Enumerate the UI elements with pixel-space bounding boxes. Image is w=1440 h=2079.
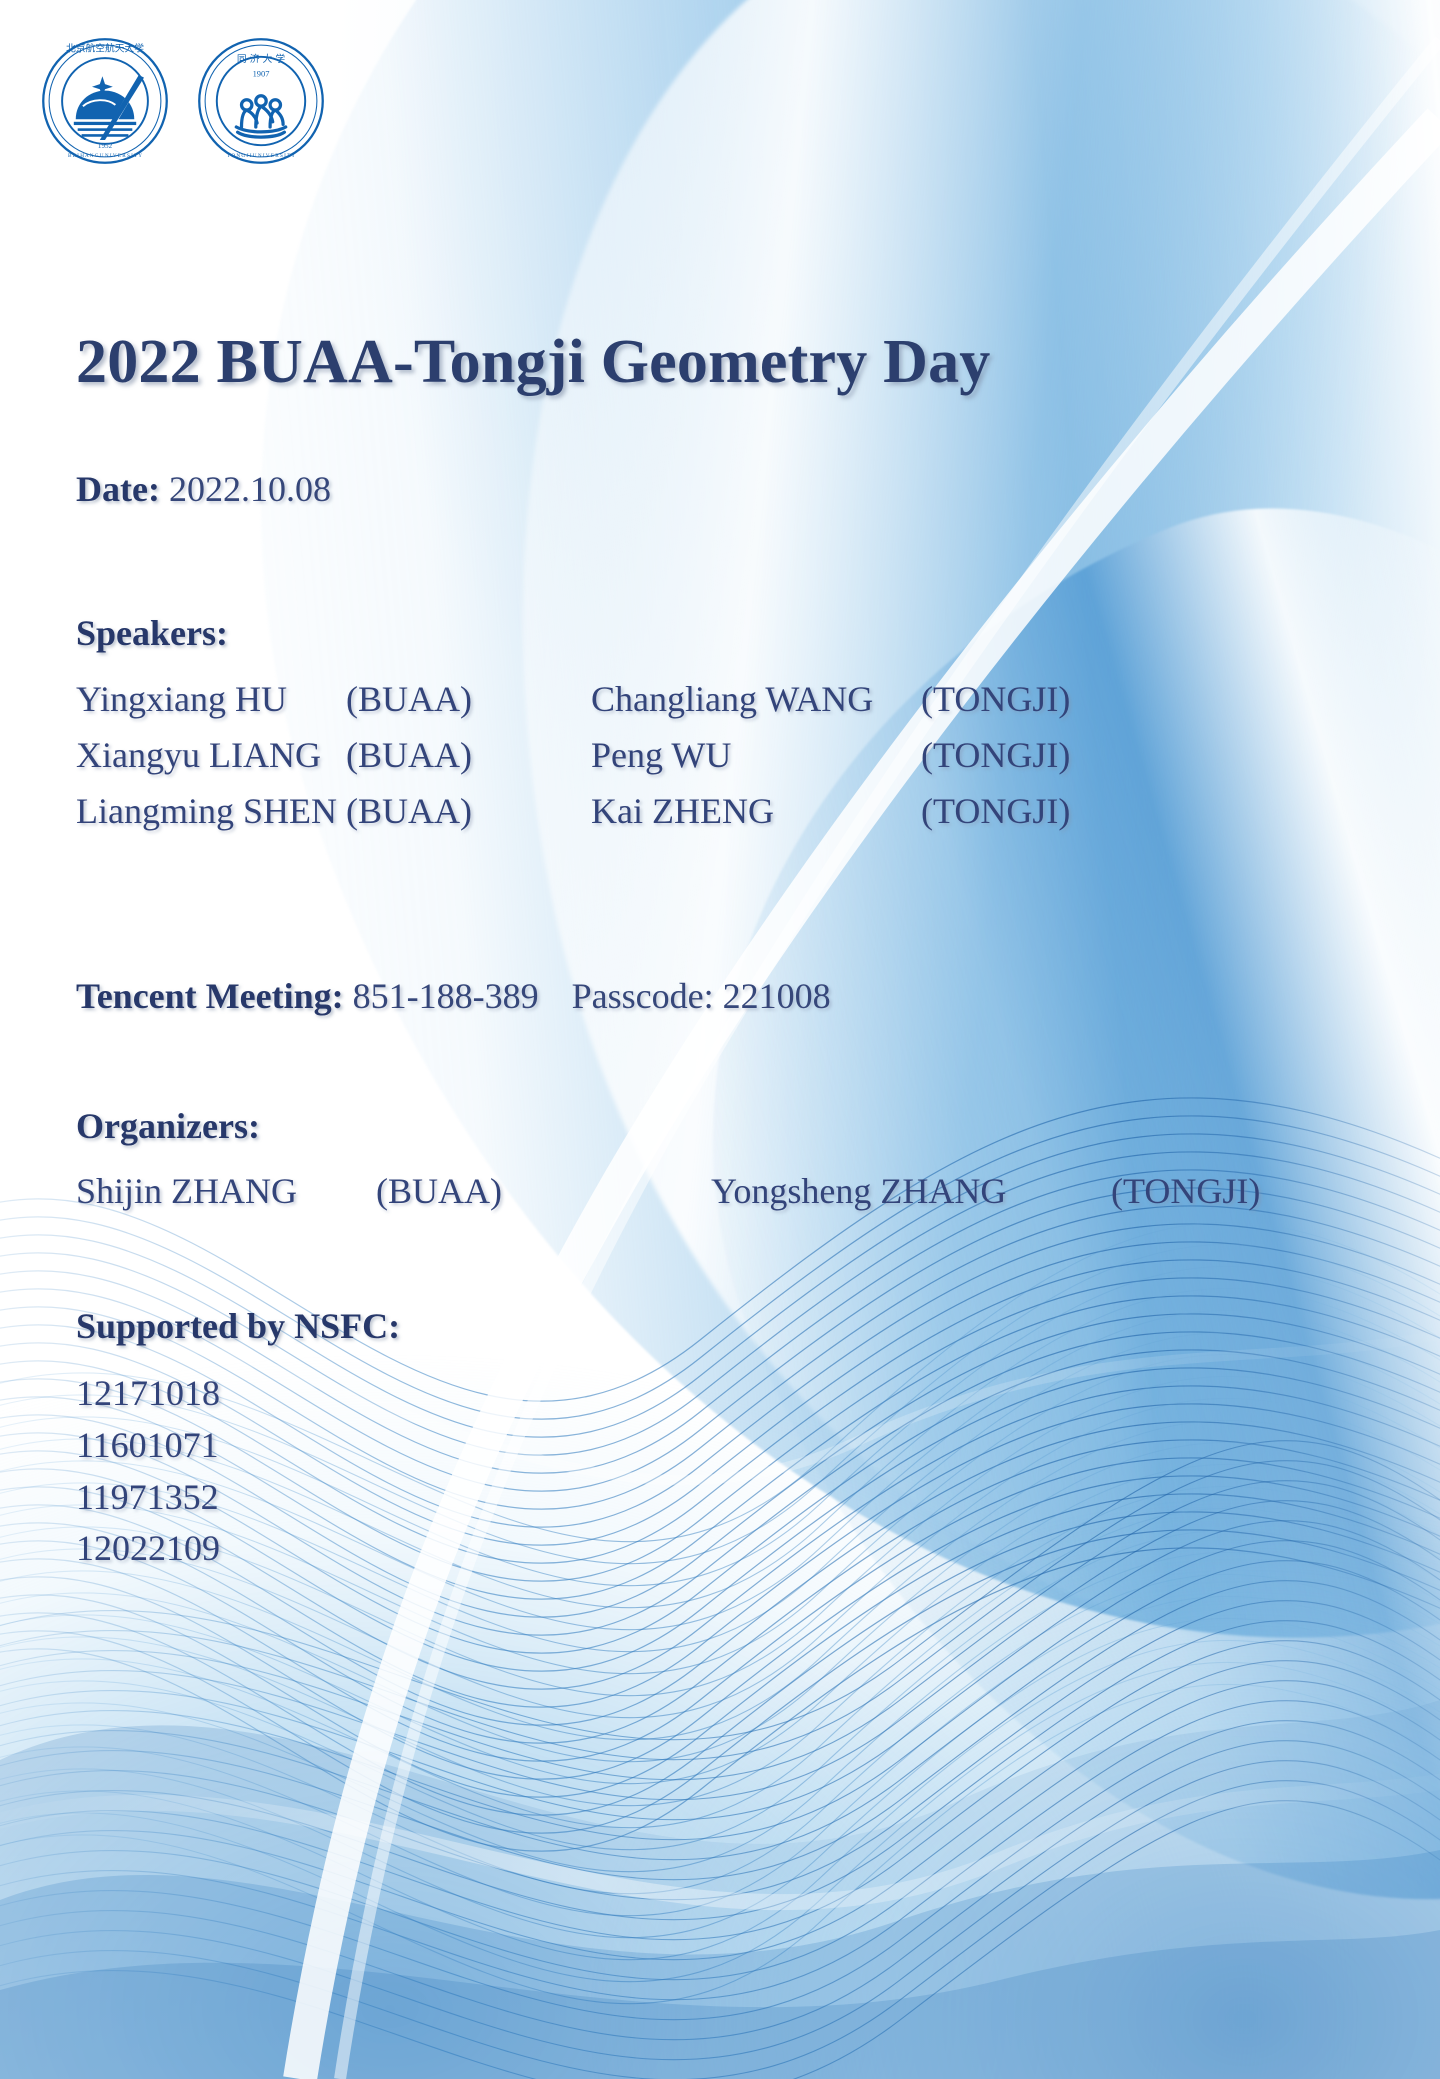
poster-canvas: 北京航空航天大学 B E I H A N G U N I V E R S I T… [0,0,1440,2079]
speaker-aff-right: (TONGJI) [921,678,1070,734]
grant-number-list: 12171018 11601071 11971352 12022109 [76,1368,220,1575]
date-value: 2022.10.08 [169,469,331,509]
buaa-seal-icon: 北京航空航天大学 B E I H A N G U N I V E R S I T… [40,36,170,166]
date-line: Date: 2022.10.08 [76,468,331,510]
table-row: Shijin ZHANG (BUAA) Yongsheng ZHANG (TON… [76,1170,1260,1212]
passcode-label: Passcode: [572,976,714,1016]
speakers-table: Yingxiang HU (BUAA) Changliang WANG (TON… [76,678,1070,846]
date-label: Date: [76,469,160,509]
speaker-name-left: Yingxiang HU [76,678,346,734]
organizers-table: Shijin ZHANG (BUAA) Yongsheng ZHANG (TON… [76,1170,1260,1212]
svg-text:北京航空航天大学: 北京航空航天大学 [66,42,144,55]
list-item: 11601071 [76,1420,220,1472]
table-row: Liangming SHEN (BUAA) Kai ZHENG (TONGJI) [76,790,1070,846]
speaker-aff-left: (BUAA) [346,678,591,734]
tongji-seal-icon: 同 济 大 学 1907 T O N G J I U N I V E R S I… [196,36,326,166]
speaker-name-right: Kai ZHENG [591,790,921,846]
list-item: 12171018 [76,1368,220,1420]
table-row: Xiangyu LIANG (BUAA) Peng WU (TONGJI) [76,734,1070,790]
support-heading: Supported by NSFC: [76,1305,400,1347]
meeting-id: 851-188-389 [353,976,539,1016]
speaker-name-right: Peng WU [591,734,921,790]
table-row: Yingxiang HU (BUAA) Changliang WANG (TON… [76,678,1070,734]
speaker-name-left: Xiangyu LIANG [76,734,346,790]
speaker-name-left: Liangming SHEN [76,790,346,846]
speakers-heading: Speakers: [76,612,228,654]
svg-text:1907: 1907 [253,68,270,78]
list-item: 11971352 [76,1472,220,1524]
page-title: 2022 BUAA-Tongji Geometry Day [76,327,991,398]
organizer-aff-right: (TONGJI) [1111,1170,1260,1212]
background-wave-lines [0,0,1440,2079]
speaker-aff-left: (BUAA) [346,790,591,846]
svg-text:同 济 大 学: 同 济 大 学 [237,52,286,65]
organizers-heading: Organizers: [76,1105,260,1147]
speaker-aff-left: (BUAA) [346,734,591,790]
meeting-line: Tencent Meeting: 851-188-389 Passcode: 2… [76,975,831,1017]
university-logos: 北京航空航天大学 B E I H A N G U N I V E R S I T… [40,36,326,166]
speaker-name-right: Changliang WANG [591,678,921,734]
organizer-name-right: Yongsheng ZHANG [711,1170,1111,1212]
meeting-label: Tencent Meeting: [76,976,344,1016]
svg-text:B E I H A N G U N I V E R S: B E I H A N G U N I V E R S I T Y [68,153,142,159]
speaker-aff-right: (TONGJI) [921,790,1070,846]
passcode-value: 221008 [723,976,831,1016]
speaker-aff-right: (TONGJI) [921,734,1070,790]
svg-text:T O N G J I U N I V E R S I: T O N G J I U N I V E R S I T Y [227,153,295,159]
organizer-name-left: Shijin ZHANG [76,1170,376,1212]
svg-text:1952: 1952 [98,142,113,150]
list-item: 12022109 [76,1523,220,1575]
organizer-aff-left: (BUAA) [376,1170,711,1212]
